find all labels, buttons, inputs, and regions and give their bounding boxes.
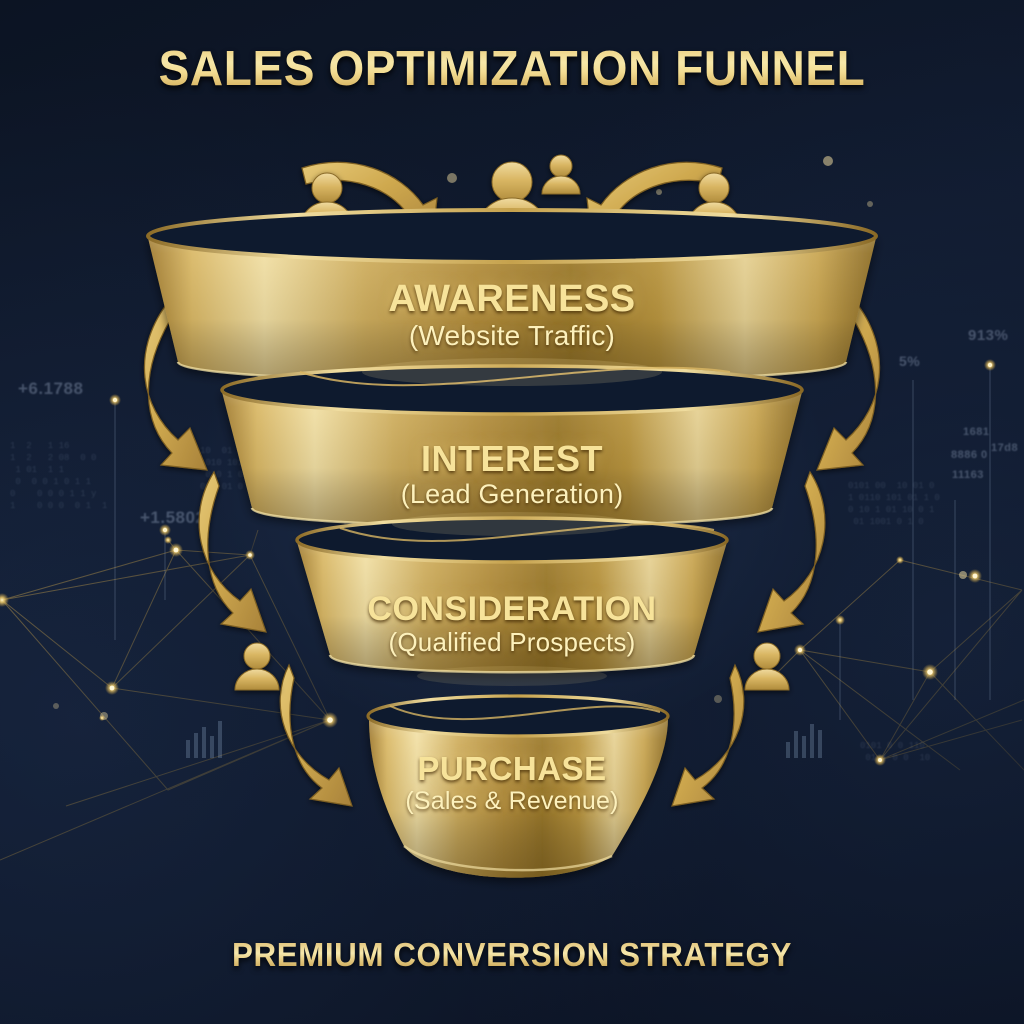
person-bottom-right-icon: [745, 643, 789, 690]
arrow-left-stage3-stage4: [280, 665, 352, 806]
funnel-graphic: [0, 0, 1024, 1024]
funnel-stage-purchase[interactable]: [368, 696, 668, 878]
person-top-center-small-icon: [542, 155, 580, 194]
page-footer: PREMIUM CONVERSION STRATEGY: [26, 936, 999, 974]
arrow-right-stage3-stage4: [672, 665, 744, 806]
person-bottom-left-icon: [235, 643, 279, 690]
page-title: SALES OPTIMIZATION FUNNEL: [31, 41, 994, 97]
funnel-stage-consideration[interactable]: [297, 518, 727, 672]
funnel-infographic: +6.1788 +1.5802 913% 5% 1681 17d8 8886 0…: [0, 0, 1024, 1024]
funnel-stage-awareness[interactable]: [148, 210, 876, 382]
funnel-stage-interest[interactable]: [222, 366, 802, 526]
